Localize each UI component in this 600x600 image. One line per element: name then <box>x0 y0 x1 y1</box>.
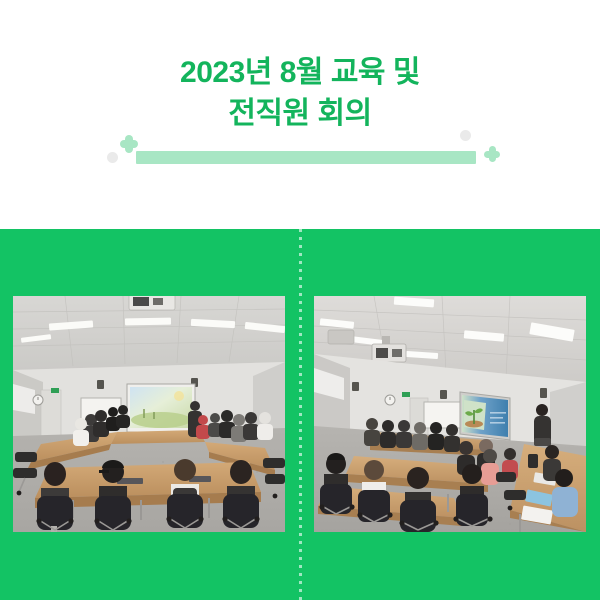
photo-left: 교육장 전경 - 참석자들이 책상에 둘러앉아 스크린을 바라보는 모습 <box>13 296 285 532</box>
page-title: 2023년 8월 교육 및 전직원 회의 <box>0 52 600 135</box>
seminar-room-angled-view-illustration <box>314 296 586 532</box>
title-underline-bar <box>136 151 476 164</box>
title-line-1: 2023년 8월 교육 및 <box>0 52 600 93</box>
projector <box>129 296 175 310</box>
clover-icon <box>120 135 138 153</box>
title-line-2: 전직원 회의 <box>0 93 600 134</box>
photo-right: 교육장 측면 - 발표자가 앞에 서 있고 직원들이 착석해 있는 모습 <box>314 296 586 532</box>
seminar-room-wide-view-illustration <box>13 296 285 532</box>
decorative-dot-icon <box>460 130 471 141</box>
decorative-dot-icon <box>107 152 118 163</box>
projection-screen <box>127 384 195 436</box>
header-section: 2023년 8월 교육 및 전직원 회의 <box>0 0 600 229</box>
projection-screen <box>460 392 510 440</box>
dotted-divider <box>299 229 302 600</box>
poster-card: 2023년 8월 교육 및 전직원 회의 교육장 전경 - 참석자들이 책상에 … <box>0 0 600 600</box>
clover-icon <box>484 146 500 162</box>
